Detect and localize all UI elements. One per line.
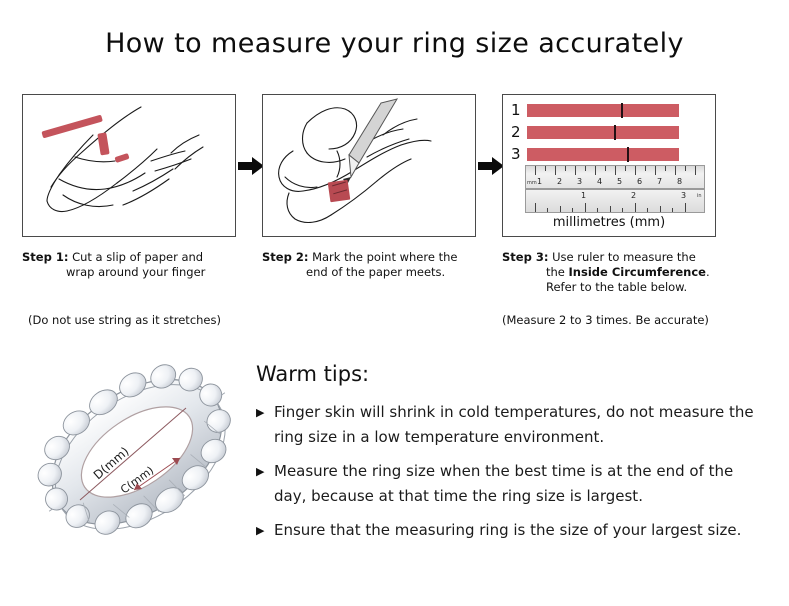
tip-text: Finger skin will shrink in cold temperat…	[274, 400, 766, 450]
ruler-tick-label: 1	[537, 178, 542, 186]
step-1-caption: Step 1: Cut a slip of paper and wrap aro…	[22, 250, 242, 280]
right-arrow-icon	[478, 156, 504, 176]
tip-item: ▶ Measure the ring size when the best ti…	[256, 459, 766, 509]
strip-mark	[614, 125, 616, 140]
strip-row: 2	[511, 123, 709, 142]
tip-text: Ensure that the measuring ring is the si…	[274, 518, 766, 543]
paper-strip	[527, 126, 679, 139]
right-arrow-icon	[238, 156, 264, 176]
page-title: How to measure your ring size accurately	[0, 28, 789, 59]
step-3-note: (Measure 2 to 3 times. Be accurate)	[502, 313, 709, 327]
tip-text: Measure the ring size when the best time…	[274, 459, 766, 509]
step-3-line-3: Refer to the table below.	[502, 280, 732, 295]
ruler-imperial-scale	[525, 189, 705, 213]
step-3-caption: Step 3: Use ruler to measure the the Ins…	[502, 250, 732, 295]
strip-mark	[627, 147, 629, 162]
triangle-bullet-icon: ▶	[256, 459, 274, 484]
step-1-line-2: wrap around your finger	[22, 265, 242, 280]
step-1-line-1: Cut a slip of paper and	[72, 250, 203, 264]
strip-row: 1	[511, 101, 709, 120]
ruler-caption: millimetres (mm)	[503, 215, 715, 230]
ruler-tick-label: 3	[577, 178, 582, 186]
step-3-line-2: the Inside Circumference.	[502, 265, 732, 280]
measured-strips: 1 2 3	[511, 101, 709, 167]
step-1-note: (Do not use string as it stretches)	[28, 313, 221, 327]
step-2-line-1: Mark the point where the	[312, 250, 457, 264]
strip-row: 3	[511, 145, 709, 164]
ruler-illustration: mm 1 2 3 4 5 6 7 8 1 2 3 in	[525, 165, 705, 213]
ring-diagram: D(mm) C(mm)	[28, 352, 246, 552]
step-2-panel	[262, 94, 476, 237]
hand-with-paper-strip-illustration	[23, 95, 235, 236]
step-3-line-1: Use ruler to measure the	[552, 250, 696, 264]
step-1-panel	[22, 94, 236, 237]
triangle-bullet-icon: ▶	[256, 518, 274, 543]
ruler-tick-label: 1	[581, 192, 586, 200]
ruler-unit-mm: mm	[527, 180, 537, 186]
paper-strip	[527, 104, 679, 117]
step-2-line-2: end of the paper meets.	[262, 265, 482, 280]
steps-row: 1 2 3	[0, 94, 789, 239]
ruler-tick-label: 8	[677, 178, 682, 186]
strip-number: 1	[511, 103, 527, 118]
step-3-label: Step 3:	[502, 250, 548, 264]
ruler-tick-label: 6	[637, 178, 642, 186]
paper-strip	[527, 148, 679, 161]
ruler-tick-label: 2	[631, 192, 636, 200]
tip-item: ▶ Ensure that the measuring ring is the …	[256, 518, 766, 543]
step-2-caption: Step 2: Mark the point where the end of …	[262, 250, 482, 280]
warm-tips-section: Warm tips: ▶ Finger skin will shrink in …	[256, 362, 766, 552]
step-3-panel: 1 2 3	[502, 94, 716, 237]
tip-item: ▶ Finger skin will shrink in cold temper…	[256, 400, 766, 450]
step-2-label: Step 2:	[262, 250, 308, 264]
ruler-unit-inch: in	[697, 193, 702, 199]
ruler-tick-label: 2	[557, 178, 562, 186]
strip-mark	[621, 103, 623, 118]
step-1-label: Step 1:	[22, 250, 68, 264]
strip-number: 3	[511, 147, 527, 162]
ruler-tick-label: 4	[597, 178, 602, 186]
triangle-bullet-icon: ▶	[256, 400, 274, 425]
strip-number: 2	[511, 125, 527, 140]
hand-marking-pen-illustration	[263, 95, 475, 236]
ruler-tick-label: 7	[657, 178, 662, 186]
ruler-tick-label: 5	[617, 178, 622, 186]
warm-tips-heading: Warm tips:	[256, 362, 766, 386]
inside-circumference-emphasis: Inside Circumference	[569, 265, 706, 279]
ruler-tick-label: 3	[681, 192, 686, 200]
